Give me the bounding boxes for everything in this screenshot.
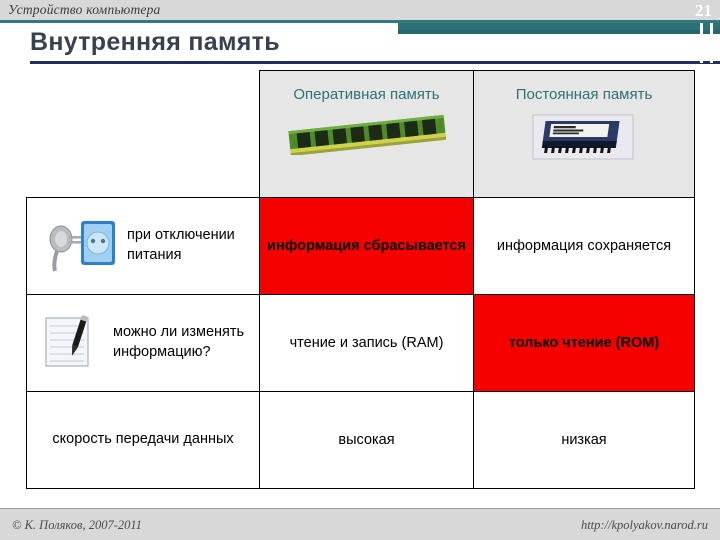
row-label-modifiable-text: можно ли изменять информацию? <box>103 323 259 362</box>
decorative-tick-right <box>710 23 713 63</box>
row-label-modifiable: можно ли изменять информацию? <box>27 295 260 392</box>
table-row: скорость передачи данных высокая низкая <box>27 392 695 489</box>
ram-module-icon <box>283 111 451 155</box>
column-header-rom-label: Постоянная память <box>516 85 653 105</box>
table-corner-cell <box>27 71 260 198</box>
header-accent-bar-shadow <box>398 30 720 34</box>
table-row: можно ли изменять информацию? чтение и з… <box>27 295 695 392</box>
decorative-line-secondary <box>427 46 673 49</box>
memory-comparison-table: Оперативная память <box>26 70 695 489</box>
cell-rom-power-off: информация сохраняется <box>474 198 695 295</box>
cell-rom-modifiable: только чтение (ROM) <box>474 295 695 392</box>
page-number: 21 <box>695 1 712 21</box>
power-plug-socket-icon <box>41 215 117 277</box>
page-title: Внутренняя память <box>30 28 280 57</box>
table-row: при отключении питания информация сбрасы… <box>27 198 695 295</box>
column-header-rom: Постоянная память <box>474 71 695 198</box>
rom-chip-icon <box>531 111 637 163</box>
notepad-pencil-icon <box>41 310 103 376</box>
row-label-speed: скорость передачи данных <box>27 392 260 489</box>
row-label-power-off: при отключении питания <box>27 198 260 295</box>
column-header-ram-label: Оперативная память <box>293 85 439 105</box>
cell-ram-speed: высокая <box>260 392 474 489</box>
decorative-tick-left <box>700 23 703 63</box>
footer-url[interactable]: http://kpolyakov.narod.ru <box>581 518 708 533</box>
cell-ram-power-off: информация сбрасывается <box>260 198 474 295</box>
table-header-row: Оперативная память <box>27 71 695 198</box>
row-label-speed-text: скорость передачи данных <box>27 430 259 450</box>
title-underline <box>30 61 720 64</box>
cell-ram-modifiable: чтение и запись (RAM) <box>260 295 474 392</box>
cell-rom-speed: низкая <box>474 392 695 489</box>
row-label-power-off-text: при отключении питания <box>117 226 259 265</box>
footer-copyright: © К. Поляков, 2007-2011 <box>12 518 142 533</box>
breadcrumb: Устройство компьютера <box>8 2 161 18</box>
decorative-line-primary <box>427 39 705 44</box>
column-header-ram: Оперативная память <box>260 71 474 198</box>
footer-divider <box>0 508 720 509</box>
